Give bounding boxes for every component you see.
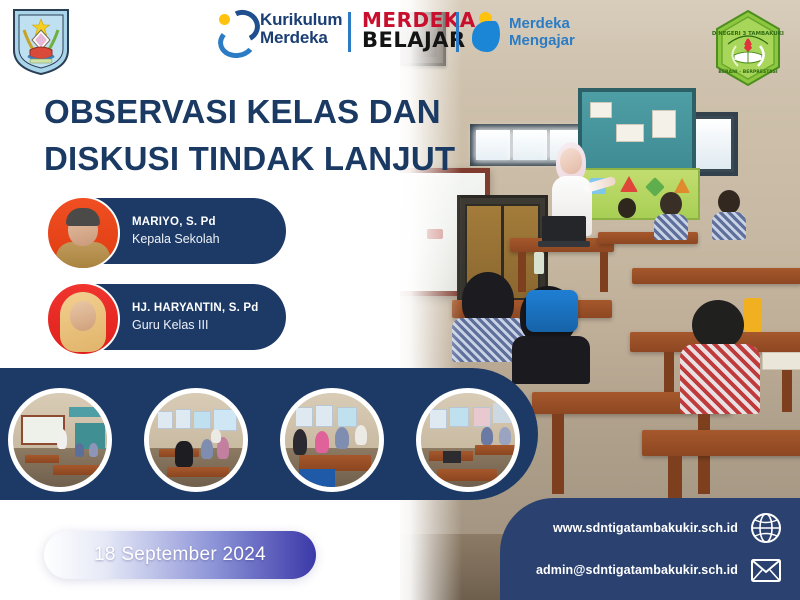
student-desk [642, 430, 800, 456]
headline-line-2: DISKUSI TINDAK LANJUT [44, 135, 514, 182]
student-head [660, 192, 682, 216]
window-strip [69, 407, 107, 417]
student-body [512, 336, 590, 384]
teacher-figure [355, 425, 367, 445]
km-line1: Kurikulum [260, 11, 342, 29]
wall-poster [175, 409, 191, 429]
globe-icon [750, 512, 782, 544]
wall-poster [157, 411, 173, 429]
teacher-figure [57, 429, 67, 449]
desk [53, 465, 111, 475]
pinned-paper [590, 102, 612, 118]
display-shape [674, 178, 690, 193]
svg-text:BERANI - BERPRESTASI: BERANI - BERPRESTASI [718, 69, 778, 75]
flower-vase [534, 252, 544, 274]
date-badge: 18 September 2024 [44, 531, 316, 579]
desk [167, 467, 229, 477]
gallery-photo-2[interactable] [144, 388, 248, 492]
page-title: OBSERVASI KELAS DAN DISKUSI TINDAK LANJU… [44, 88, 514, 182]
person-role: Kepala Sekolah [132, 232, 220, 246]
pinned-paper [652, 110, 676, 138]
wall-poster [295, 407, 313, 427]
student-head [618, 198, 636, 218]
laptop [542, 216, 586, 242]
student-body [680, 344, 760, 414]
student-head [718, 190, 740, 214]
mm-line2: Mengajar [509, 32, 575, 49]
headline-line-1: OBSERVASI KELAS DAN [44, 88, 514, 135]
kurikulum-merdeka-mark-icon [216, 10, 252, 48]
student-figure [75, 443, 84, 457]
envelope-icon [750, 554, 782, 586]
teacher-figure [211, 429, 221, 443]
person-card-text: MARIYO, S. Pd Kepala Sekolah [132, 216, 220, 246]
pinned-paper [616, 124, 644, 142]
student-figure [335, 427, 349, 449]
wall-poster [213, 409, 237, 431]
laptop [443, 451, 461, 463]
contact-website-row[interactable]: www.sdntigatambakukir.sch.id [553, 512, 782, 544]
gallery-photo-4[interactable] [416, 388, 520, 492]
desk [437, 469, 497, 481]
student-figure [481, 427, 493, 445]
water-bottle [744, 298, 762, 332]
table-cloth [299, 469, 335, 487]
gallery-photo-1[interactable] [8, 388, 112, 492]
avatar [46, 282, 120, 356]
km-line2: Merdeka [260, 29, 342, 47]
contact-email-row[interactable]: admin@sdntigatambakukir.sch.id [536, 554, 782, 586]
header-logo-band: Kurikulum Merdeka MERDEKA BELAJAR Merdek… [0, 0, 800, 78]
person-name: HJ. HARYANTIN, S. Pd [132, 302, 258, 314]
wall-poster [429, 409, 447, 429]
person-card-teacher[interactable]: HJ. HARYANTIN, S. Pd Guru Kelas III [48, 284, 286, 350]
wall-poster [473, 407, 491, 427]
desk-leg [518, 252, 526, 292]
person-card-principal[interactable]: MARIYO, S. Pd Kepala Sekolah [48, 198, 286, 264]
display-shape [645, 177, 665, 197]
student-head [692, 300, 744, 350]
person-card-text: HJ. HARYANTIN, S. Pd Guru Kelas III [132, 302, 258, 332]
student-body [712, 212, 746, 240]
books-on-desk [762, 352, 800, 370]
poster-canvas: Kurikulum Merdeka MERDEKA BELAJAR Merdek… [0, 0, 800, 600]
window [493, 403, 511, 423]
school-emblem-icon: SD NEGERI 3 TAMBAKUKIR BERANI - BERPREST… [712, 8, 784, 88]
logo-divider-1 [348, 12, 351, 52]
desk-leg [600, 252, 608, 292]
gallery-photo-3[interactable] [280, 388, 384, 492]
merdeka-mengajar-logo: Merdeka Mengajar [470, 12, 575, 52]
mm-line1: Merdeka [509, 15, 575, 32]
avatar-hair [66, 208, 100, 226]
date-text: 18 September 2024 [94, 544, 266, 566]
teacher-face [560, 148, 582, 174]
merdeka-mengajar-mark-icon [470, 12, 502, 52]
student-backpack [526, 290, 578, 332]
contact-panel: www.sdntigatambakukir.sch.id admin@sdnti… [500, 498, 800, 600]
student-figure [315, 431, 329, 453]
east-java-province-emblem-icon [10, 6, 72, 76]
logo-divider-2 [456, 12, 459, 52]
kurikulum-merdeka-text: Kurikulum Merdeka [260, 11, 342, 47]
avatar-face [70, 301, 96, 331]
desk [25, 455, 59, 463]
desk [475, 445, 515, 455]
student-figure [89, 443, 98, 457]
desk-leg [552, 414, 564, 494]
email-text: admin@sdntigatambakukir.sch.id [536, 563, 738, 577]
wall-poster [449, 407, 469, 427]
avatar [46, 196, 120, 270]
wall-poster [193, 411, 211, 429]
merdeka-mengajar-text: Merdeka Mengajar [509, 15, 575, 49]
person-role: Guru Kelas III [132, 318, 258, 332]
svg-text:SD NEGERI 3 TAMBAKUKIR: SD NEGERI 3 TAMBAKUKIR [712, 31, 784, 37]
person-name: MARIYO, S. Pd [132, 216, 220, 228]
blue-figure-icon [472, 21, 500, 52]
kurikulum-merdeka-logo: Kurikulum Merdeka [216, 10, 342, 48]
display-shape [620, 176, 638, 192]
wall-poster [337, 407, 357, 427]
student-figure [293, 429, 307, 455]
student-desk [632, 268, 800, 284]
website-text: www.sdntigatambakukir.sch.id [553, 521, 738, 535]
wall-poster [315, 405, 333, 427]
teal-notice-board [578, 88, 696, 174]
student-figure [499, 427, 511, 445]
decorated-display-board [578, 168, 700, 220]
student-figure [175, 441, 193, 467]
window-pane [513, 130, 547, 160]
student-body [654, 214, 688, 240]
